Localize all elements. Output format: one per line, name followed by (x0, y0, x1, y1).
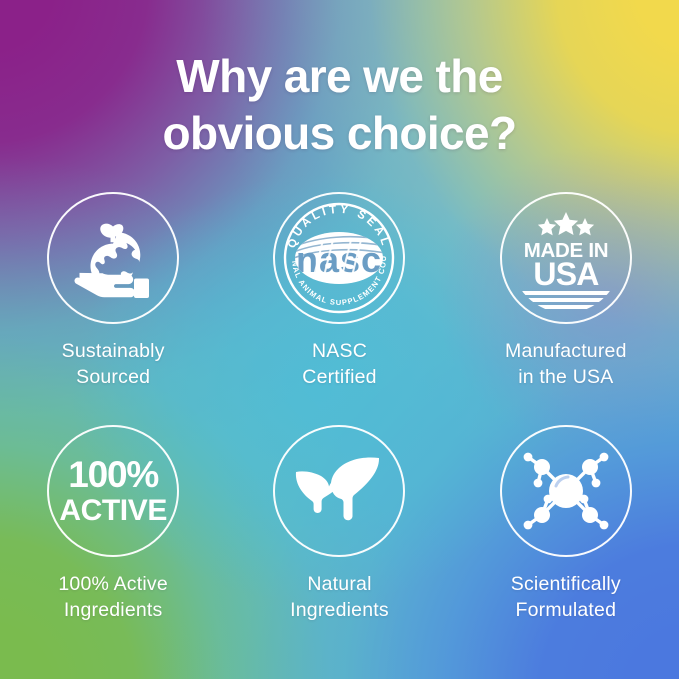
badge-ring: QUALITY SEAL NATIONAL ANIMAL SUPPLEMENT … (273, 192, 405, 324)
caption-line-2: Formulated (511, 597, 621, 623)
caption-line-1: Natural (290, 571, 389, 597)
caption-line-2: Ingredients (290, 597, 389, 623)
benefit-100-percent-active: 100% ACTIVE 100% Active Ingredients (0, 425, 226, 623)
caption-line-1: Scientifically (511, 571, 621, 597)
usa-text: USA (533, 256, 599, 292)
caption-line-2: Certified (302, 364, 376, 390)
nasc-quality-seal-icon: QUALITY SEAL NATIONAL ANIMAL SUPPLEMENT … (277, 196, 401, 320)
benefit-caption: Natural Ingredients (290, 571, 389, 623)
made-in-usa-icon: MADE IN USA (505, 197, 627, 319)
benefit-caption: Sustainably Sourced (62, 338, 165, 390)
badge-ring: MADE IN USA (500, 192, 632, 324)
caption-line-1: NASC (302, 338, 376, 364)
title-line-1: Why are we the (0, 48, 679, 105)
benefit-caption: NASC Certified (302, 338, 376, 390)
benefit-scientifically-formulated: Scientifically Formulated (453, 425, 679, 623)
stripes-group (511, 291, 621, 309)
title-line-2: obvious choice? (0, 105, 679, 162)
badge-ring (273, 425, 405, 557)
seal-center-text: nasc (296, 239, 382, 280)
caption-line-1: 100% Active (58, 571, 168, 597)
promo-poster: Why are we the obvious choice? Sustainab… (0, 0, 679, 679)
benefit-caption: Manufactured in the USA (505, 338, 627, 390)
benefit-caption: Scientifically Formulated (511, 571, 621, 623)
benefit-natural-ingredients: Natural Ingredients (226, 425, 452, 623)
badge-ring (47, 192, 179, 324)
caption-line-2: Ingredients (58, 597, 168, 623)
benefit-manufactured-in-usa: MADE IN USA Manufactured in the USA (453, 192, 679, 390)
hundred-percent-active-icon: 100% ACTIVE (59, 456, 167, 526)
benefit-nasc-certified: QUALITY SEAL NATIONAL ANIMAL SUPPLEMENT … (226, 192, 452, 390)
benefits-grid: Sustainably Sourced QUALITY SEAL (0, 192, 679, 623)
percent-text: 100% (59, 456, 167, 493)
badge-ring (500, 425, 632, 557)
active-text: ACTIVE (59, 496, 167, 526)
stars-group (538, 212, 594, 235)
benefit-sustainably-sourced: Sustainably Sourced (0, 192, 226, 390)
caption-line-1: Manufactured (505, 338, 627, 364)
two-leaves-icon (291, 446, 387, 536)
globe-in-hand-icon (65, 210, 161, 306)
caption-line-2: in the USA (505, 364, 627, 390)
caption-line-2: Sourced (62, 364, 165, 390)
benefit-caption: 100% Active Ingredients (58, 571, 168, 623)
molecule-icon (516, 441, 616, 541)
page-title: Why are we the obvious choice? (0, 48, 679, 162)
badge-ring: 100% ACTIVE (47, 425, 179, 557)
caption-line-1: Sustainably (62, 338, 165, 364)
